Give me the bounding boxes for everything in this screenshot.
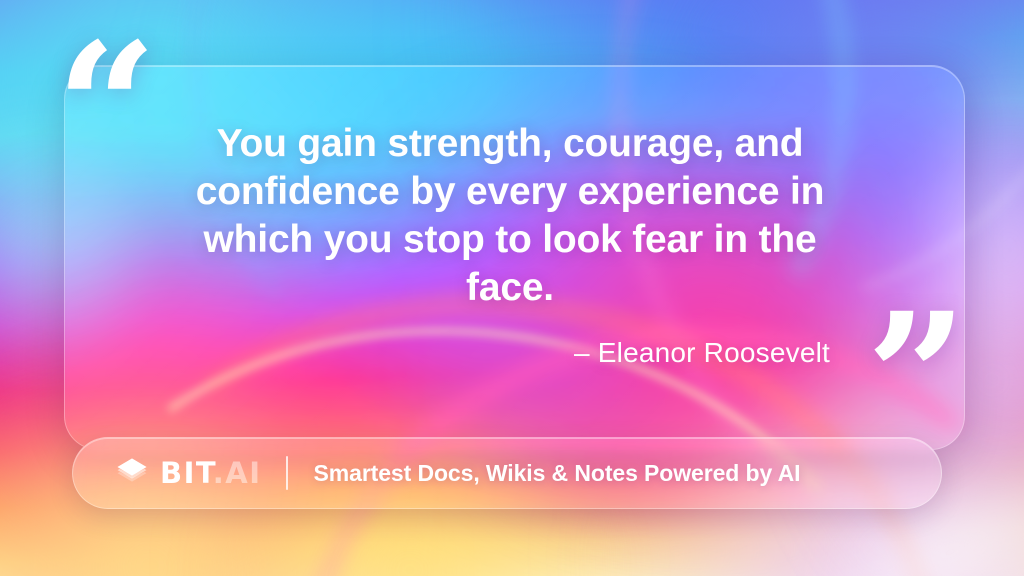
brand-name-secondary: .AI [213,456,262,490]
stacked-layers-icon [115,456,149,490]
brand-name-primary: BIT [160,456,213,490]
footer-tagline: Smartest Docs, Wikis & Notes Powered by … [314,460,801,487]
quote-graphic: “ You gain strength, courage, and confid… [0,0,1024,576]
quote-text: You gain strength, courage, and confiden… [190,120,830,312]
open-quote-icon: “ [56,20,157,196]
brand-wordmark: BIT.AI [160,459,262,488]
footer-divider [286,456,288,490]
quote-author: – Eleanor Roosevelt [190,337,830,369]
brand-footer-bar: BIT.AI Smartest Docs, Wikis & Notes Powe… [72,437,942,509]
